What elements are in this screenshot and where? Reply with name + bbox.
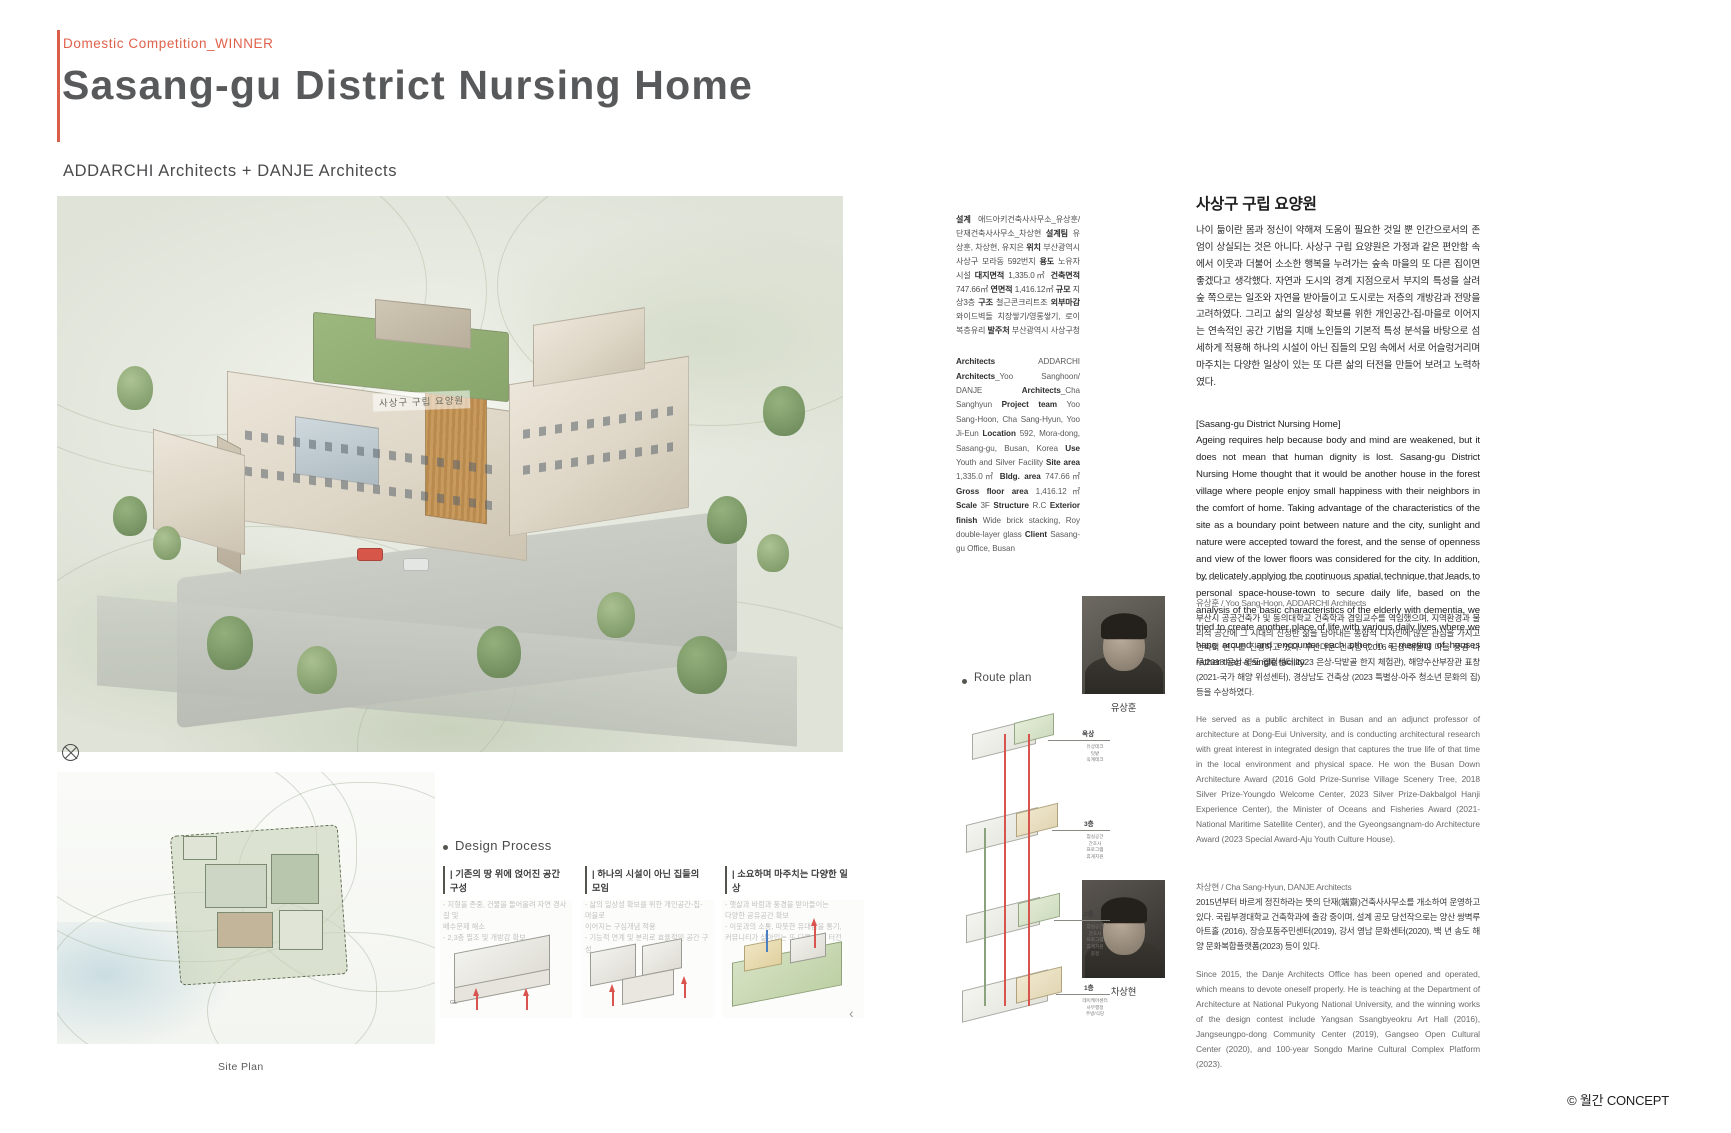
site-plan-caption: Site Plan bbox=[218, 1061, 264, 1073]
route-level-label: 1층 bbox=[1084, 982, 1094, 992]
chevron-left-icon: ‹ bbox=[849, 1005, 854, 1021]
route-leader-line bbox=[1048, 740, 1110, 741]
hero-rendering: 사상구 구립 요양원 bbox=[57, 196, 843, 752]
tree bbox=[763, 386, 805, 436]
page-title: Sasang-gu District Nursing Home bbox=[62, 62, 753, 109]
credits-column: 설계 애드아키건축사사무소_유상훈/ 단재건축사사무소_차상현 설계팀 유상훈,… bbox=[956, 213, 1080, 557]
north-arrow-icon bbox=[62, 744, 79, 761]
site-building bbox=[183, 836, 217, 860]
kicker-label: Domestic Competition_WINNER bbox=[63, 36, 274, 51]
diagram-arrow-blue bbox=[766, 930, 768, 952]
design-process-title: | 소요하며 마주치는 다양한 일상 bbox=[725, 866, 849, 894]
bio-body-kr-1: 부산시 공공건축가 및 동의대학교 건축학과 겸임교수를 역임했으며, 지역환경… bbox=[1196, 611, 1480, 700]
design-process-heading: Design Process bbox=[455, 838, 552, 853]
tree bbox=[113, 496, 147, 536]
essay-body-kr: 나이 듦이란 몸과 정신이 약해져 도움이 필요한 것일 뿐 인간으로서의 존엄… bbox=[1196, 223, 1480, 392]
header-accent-rule bbox=[57, 30, 60, 142]
diagram-arrow-head bbox=[681, 976, 687, 984]
route-vertical-line bbox=[1028, 734, 1030, 1006]
design-process-title: | 하나의 시설이 아닌 집들의 모임 bbox=[585, 866, 709, 894]
diagram-arrow-head bbox=[473, 988, 479, 996]
route-level-sub: 침실공간 간호사 프로그램 휴게지원 bbox=[1066, 834, 1124, 861]
design-process-diagram: GL bbox=[440, 900, 572, 1018]
site-plan-drawing bbox=[57, 772, 435, 1044]
diagram-arrow bbox=[476, 996, 478, 1010]
bio-body-kr-2: 2015년부터 바르게 정진하라는 뜻의 단재(端齋)건축사사무소를 개소하여 … bbox=[1196, 895, 1480, 954]
route-leader-line bbox=[1054, 920, 1110, 921]
site-building bbox=[271, 854, 319, 904]
design-process-bullet-icon bbox=[443, 845, 448, 850]
route-level-label: 3층 bbox=[1084, 818, 1094, 828]
bio-architect-2: 차상현 / Cha Sang-Hyun, DANJE Architects 20… bbox=[1196, 880, 1480, 1072]
design-process-diagram bbox=[722, 900, 864, 1018]
tree bbox=[297, 646, 337, 694]
route-plan-heading: Route plan bbox=[974, 672, 1032, 684]
bio-name-line-1: 유상훈 / Yoo Sang-Hoon, ADDARCHI Architects bbox=[1196, 596, 1480, 611]
route-level-label: 옥상 bbox=[1082, 728, 1094, 738]
credits-korean: 설계 애드아키건축사사무소_유상훈/ 단재건축사사무소_차상현 설계팀 유상훈,… bbox=[956, 213, 1080, 338]
bio-body-en-2: Since 2015, the Danje Architects Office … bbox=[1196, 967, 1480, 1072]
diagram-arrow-head bbox=[609, 984, 615, 992]
essay-heading-en: [Sasang-gu District Nursing Home] bbox=[1196, 419, 1480, 430]
diagram-note: GL bbox=[450, 1000, 457, 1006]
site-building bbox=[279, 910, 323, 950]
diagram-arrow-head bbox=[811, 918, 817, 926]
tree bbox=[677, 636, 727, 694]
route-vertical-line-green bbox=[984, 828, 986, 1006]
tree bbox=[477, 626, 521, 678]
site-building bbox=[217, 912, 273, 948]
route-plan-bullet-icon bbox=[962, 679, 967, 684]
avatar-architect-1 bbox=[1082, 596, 1165, 694]
design-process-diagram bbox=[582, 900, 714, 1018]
diagram-arrow-head bbox=[523, 988, 529, 996]
site-building bbox=[205, 864, 267, 908]
route-leader-line bbox=[1052, 830, 1110, 831]
route-level-sub: 침실공간 간호사 프로그램 휴게지원 중정 bbox=[1066, 924, 1124, 957]
building-signage: 사상구 구립 요양원 bbox=[373, 390, 471, 411]
tree bbox=[757, 534, 789, 572]
design-process-title: | 기존의 땅 위에 얹어진 공간 구성 bbox=[443, 866, 567, 894]
tree bbox=[153, 526, 181, 560]
route-level-label: 2층 bbox=[1084, 908, 1094, 918]
avatar-hair bbox=[1101, 614, 1147, 640]
route-vertical-line bbox=[1004, 734, 1006, 1006]
tree bbox=[207, 616, 253, 670]
route-level-sub: 유상데크 텃밭 옥계테크 bbox=[1066, 744, 1124, 764]
magazine-spread: Domestic Competition_WINNER Sasang-gu Di… bbox=[0, 0, 1731, 1133]
tree bbox=[117, 366, 153, 410]
byline-label: ADDARCHI Architects + DANJE Architects bbox=[63, 162, 397, 181]
diagram-arrow bbox=[612, 992, 614, 1006]
vehicle bbox=[403, 558, 429, 571]
diagram-arrow bbox=[814, 926, 816, 948]
bio-name-line-2: 차상현 / Cha Sang-Hyun, DANJE Architects bbox=[1196, 880, 1480, 895]
route-leader-line bbox=[1056, 994, 1110, 995]
tree bbox=[707, 496, 747, 544]
bio-body-en-1: He served as a public architect in Busan… bbox=[1196, 712, 1480, 847]
diagram-arrow bbox=[684, 984, 686, 998]
bio-architect-1: 유상훈 / Yoo Sang-Hoon, ADDARCHI Architects… bbox=[1196, 596, 1480, 847]
section-divider bbox=[1196, 578, 1480, 580]
vehicle bbox=[357, 548, 383, 561]
route-level-sub: 데이케어센터 사무행정 주방/식당 bbox=[1064, 998, 1126, 1018]
footer-credit: © 월간 CONCEPT bbox=[1567, 1090, 1669, 1109]
credits-english: Architects ADDARCHI Architects_Yoo Sangh… bbox=[956, 355, 1080, 557]
diagram-arrow bbox=[526, 996, 528, 1010]
essay-heading-kr: 사상구 구립 요양원 bbox=[1196, 192, 1480, 214]
route-plan-diagram: 범 례 수직동선 이상대피 산책로 연계(외부) 차량 옥상 유상데크 텃밭 옥… bbox=[960, 688, 1180, 1028]
tree bbox=[597, 592, 635, 638]
